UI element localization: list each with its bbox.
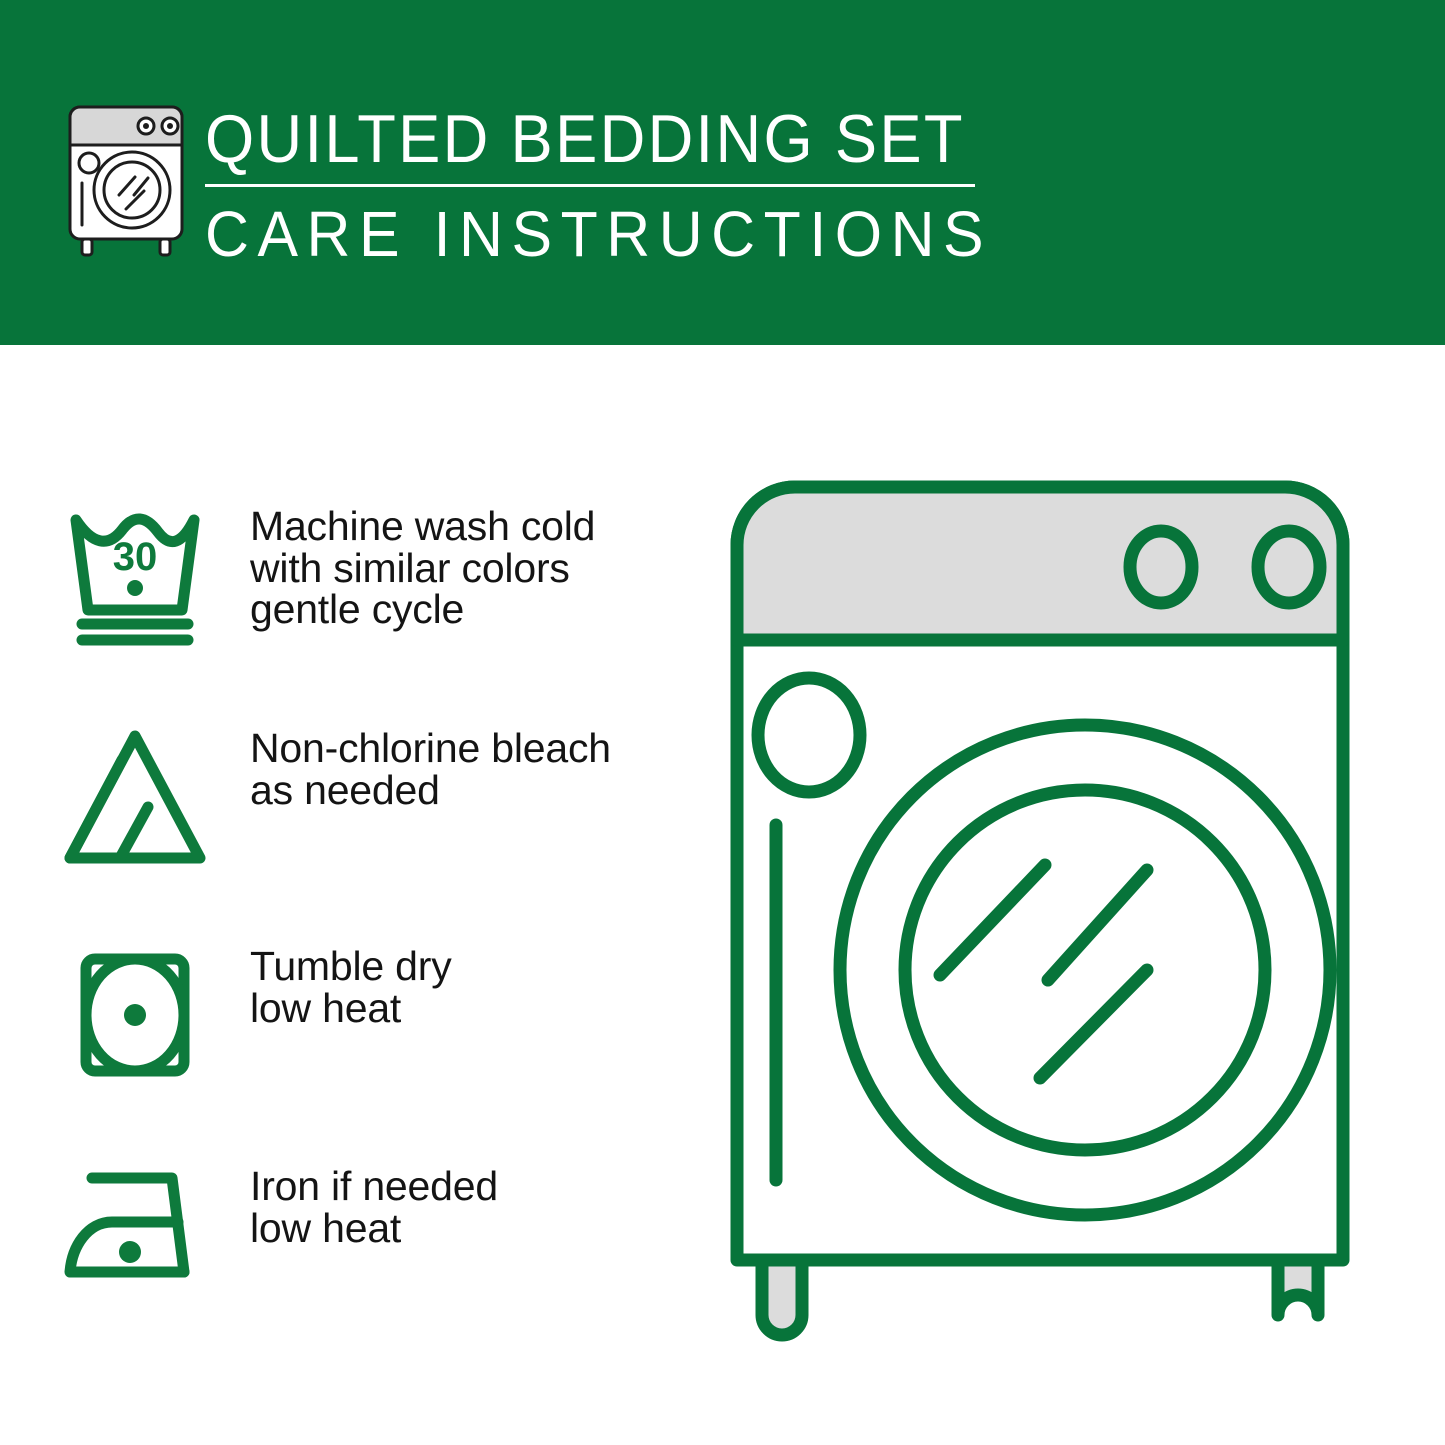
instruction-label-bleach: Non-chlorine bleach as needed [250,722,611,811]
page-title: QUILTED BEDDING SET [205,100,930,178]
front-load-washing-machine-illustration [715,470,1405,1370]
wash-tub-30-icon: 30 [60,500,250,650]
care-instructions-page: QUILTED BEDDING SET CARE INSTRUCTIONS 30… [0,0,1445,1445]
label-line: Iron if needed [250,1166,498,1208]
label-line: gentle cycle [250,589,595,631]
page-subtitle: CARE INSTRUCTIONS [205,197,946,271]
header-banner: QUILTED BEDDING SET CARE INSTRUCTIONS [0,0,1445,345]
instruction-label-machine-wash: Machine wash cold with similar colors ge… [250,500,595,631]
label-line: with similar colors [250,548,595,590]
wash-temperature-value: 30 [113,535,158,579]
tumble-dry-low-icon [60,940,250,1090]
label-line: Machine wash cold [250,506,595,548]
label-line: Tumble dry [250,946,452,988]
label-line: low heat [250,1208,498,1250]
instruction-row-machine-wash: 30 Machine wash cold with similar colors… [60,500,680,650]
label-line: Non-chlorine bleach [250,728,611,770]
instruction-row-iron: Iron if needed low heat [60,1160,680,1310]
label-line: as needed [250,770,611,812]
label-line: low heat [250,988,452,1030]
instruction-label-tumble-dry: Tumble dry low heat [250,940,452,1029]
non-chlorine-bleach-triangle-icon [60,722,250,872]
washing-machine-icon [62,103,190,261]
iron-low-heat-icon [60,1160,250,1310]
instruction-row-tumble-dry: Tumble dry low heat [60,940,680,1090]
instruction-row-bleach: Non-chlorine bleach as needed [60,722,680,872]
instruction-label-iron: Iron if needed low heat [250,1160,498,1249]
header-divider [205,184,975,187]
header-text-block: QUILTED BEDDING SET CARE INSTRUCTIONS [205,100,985,271]
